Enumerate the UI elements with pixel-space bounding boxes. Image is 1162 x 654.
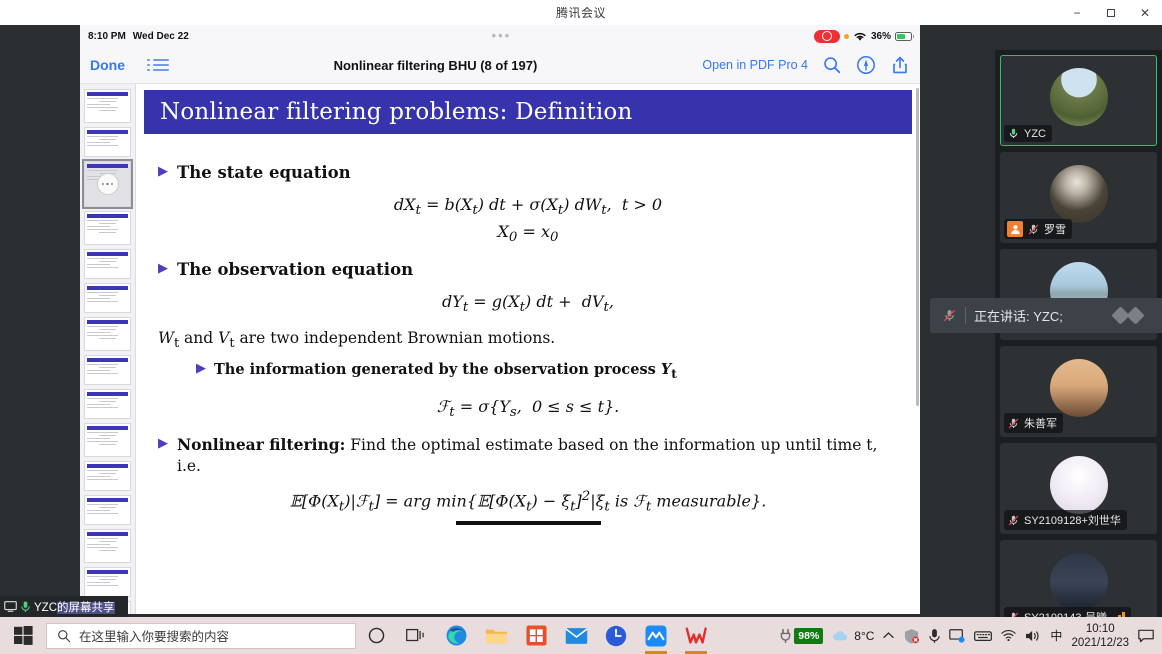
- ios-status-right: 36%: [814, 30, 912, 43]
- equation-observation: dYt = g(Xt) dt + dVt,: [158, 292, 898, 315]
- participant-nametag: 罗雪: [1004, 219, 1072, 239]
- clock-date: 2021/12/23: [1071, 636, 1129, 650]
- taskbar-clock[interactable]: 10:10 2021/12/23: [1071, 622, 1129, 650]
- ios-center-dots: •••: [189, 32, 814, 40]
- equation-state-1: dXt = b(Xt) dt + σ(Xt) dWt, t > 0: [158, 195, 898, 218]
- bullet-nonlinear-filtering: ▶ Nonlinear filtering: Find the optimal …: [158, 434, 898, 477]
- search-placeholder: 在这里输入你要搜索的内容: [79, 626, 229, 645]
- windows-taskbar: 在这里输入你要搜索的内容: [0, 617, 1162, 654]
- equation-filtration: ℱt = σ{Ys, 0 ≤ s ≤ t}.: [158, 397, 898, 420]
- bullet-label: The observation equation: [177, 259, 413, 280]
- mic-muted-icon: [942, 308, 957, 323]
- mic-muted-icon: [1027, 223, 1040, 236]
- avatar: [1050, 553, 1108, 611]
- participant-nametag: SY2109128+刘世华: [1004, 510, 1127, 530]
- thumbnail-slide[interactable]: [84, 461, 131, 491]
- thumbnail-slide[interactable]: [84, 283, 131, 313]
- screen-root: 腾讯会议 − ✕ 8:10 PM Wed Dec 22 •••: [0, 0, 1162, 654]
- thumbnail-slide[interactable]: [84, 529, 131, 563]
- wifi-icon: [853, 31, 867, 42]
- thumbnail-slide[interactable]: [84, 211, 131, 245]
- minimize-button[interactable]: −: [1060, 0, 1094, 25]
- share-banner-prefix: YZC: [34, 602, 57, 614]
- mic-muted-icon: [1007, 417, 1020, 430]
- bullet-label: The state equation: [177, 162, 351, 183]
- done-button[interactable]: Done: [90, 57, 125, 73]
- participant-name: 罗雪: [1044, 221, 1066, 237]
- battery-charging-icon: [895, 32, 912, 41]
- weather-widget[interactable]: 8°C: [832, 629, 874, 643]
- pdf-toolbar-actions: Open in PDF Pro 4: [702, 55, 910, 75]
- share-banner-highlight: 的屏幕共享: [57, 602, 115, 614]
- maximize-icon: [1106, 8, 1116, 18]
- microphone-tray-icon[interactable]: [929, 628, 940, 644]
- open-in-pdf-pro-button[interactable]: Open in PDF Pro 4: [702, 58, 808, 72]
- volume-icon[interactable]: [1025, 629, 1041, 643]
- participant-tile[interactable]: YZC: [1000, 55, 1157, 146]
- bullet-observation-equation: ▶ The observation equation: [158, 259, 898, 280]
- bullet-strong: Nonlinear filtering:: [177, 435, 345, 454]
- action-center-icon[interactable]: [1138, 629, 1154, 643]
- speaking-indicator[interactable]: 正在讲话: YZC;: [930, 298, 1162, 333]
- mail-icon[interactable]: [556, 617, 596, 654]
- battery-percent: 98%: [794, 628, 823, 644]
- tencent-meeting-icon[interactable]: [636, 617, 676, 654]
- battery-percent: 36%: [871, 31, 891, 42]
- slide-title: Nonlinear filtering problems: Definition: [144, 90, 912, 134]
- ime-indicator[interactable]: 中: [1050, 627, 1062, 644]
- task-view-icon[interactable]: [396, 617, 436, 654]
- mic-on-icon: [1007, 127, 1020, 140]
- thumbnail-slide[interactable]: [84, 567, 131, 597]
- bullet-triangle-icon: ▶: [158, 162, 168, 182]
- window-controls: − ✕: [1060, 0, 1162, 25]
- participant-tile[interactable]: SY2109128+刘世华: [1000, 443, 1157, 534]
- wps-office-icon[interactable]: [676, 617, 716, 654]
- microphone-in-use-dot-icon: [844, 34, 849, 39]
- windows-start-icon[interactable]: [0, 617, 46, 654]
- window-title: 腾讯会议: [556, 4, 606, 21]
- thumbnail-slide[interactable]: [84, 127, 131, 157]
- thumbnail-slide[interactable]: [84, 317, 131, 351]
- battery-tray-icon[interactable]: 98%: [779, 628, 823, 644]
- participant-name: YZC: [1024, 128, 1046, 140]
- record-pill-icon: [814, 30, 840, 43]
- microsoft-edge-icon[interactable]: [436, 617, 476, 654]
- search-icon[interactable]: [822, 55, 842, 75]
- participant-nametag: YZC: [1004, 125, 1052, 142]
- share-icon[interactable]: [890, 55, 910, 75]
- pdf-toolbar: Done Nonlinear filtering BHU (8 of 197) …: [80, 47, 920, 84]
- slide-underline: [456, 521, 601, 525]
- table-of-contents-icon[interactable]: [147, 59, 169, 72]
- slide-content: ▶ The state equation dXt = b(Xt) dt + σ(…: [136, 134, 920, 525]
- loop-app-icon[interactable]: [596, 617, 636, 654]
- bullet-triangle-icon: ▶: [158, 259, 168, 279]
- pdf-scrollbar[interactable]: [916, 88, 919, 406]
- thumbnail-slide[interactable]: [84, 389, 131, 419]
- thumbnail-slide[interactable]: [84, 89, 131, 123]
- wifi-tray-icon[interactable]: [1001, 629, 1016, 642]
- search-icon: [57, 629, 71, 643]
- speaking-text: 正在讲话: YZC;: [974, 306, 1063, 325]
- bullet-triangle-icon: ▶: [196, 359, 206, 379]
- show-hidden-icons-icon[interactable]: [883, 631, 894, 640]
- bullet-label: Nonlinear filtering: Find the optimal es…: [177, 434, 898, 477]
- divider: [965, 307, 966, 324]
- ios-clock: 8:10 PM: [88, 31, 126, 42]
- mic-muted-icon: [1007, 514, 1020, 527]
- file-explorer-icon[interactable]: [476, 617, 516, 654]
- slide-page: Nonlinear filtering problems: Definition…: [136, 84, 920, 614]
- equation-optimal-estimate: 𝔼[Φ(Xt)|ℱt] = arg min{𝔼[Φ(Xt) − ξt]2|ξt …: [158, 489, 898, 515]
- avatar: [1050, 68, 1108, 126]
- weather-temp: 8°C: [854, 629, 874, 643]
- participant-nametag: 朱善军: [1004, 413, 1063, 433]
- thumbnail-slide[interactable]: [84, 355, 131, 385]
- keyboard-icon[interactable]: [974, 630, 992, 642]
- cortana-circle-icon[interactable]: [356, 617, 396, 654]
- host-badge-icon: [1007, 221, 1023, 237]
- avatar: [1050, 359, 1108, 417]
- subbullet-label: The information generated by the observa…: [214, 359, 677, 385]
- meeting-stage: 8:10 PM Wed Dec 22 ••• 36% Done: [0, 25, 1162, 621]
- shared-screen: 8:10 PM Wed Dec 22 ••• 36% Done: [80, 25, 920, 614]
- brownian-motion-line: Wt and Vt are two independent Brownian m…: [158, 329, 898, 351]
- window-title-bar: 腾讯会议 − ✕: [0, 0, 1162, 25]
- power-plug-icon: [779, 628, 792, 644]
- participants-rail: YZC罗雪朱善军SY2109128+刘世华SY2109143-吴曦: [995, 50, 1162, 646]
- thumbnail-slide[interactable]: [84, 495, 131, 525]
- thumbnail-slide[interactable]: [84, 161, 131, 207]
- share-banner-text: YZC的屏幕共享: [34, 599, 115, 615]
- participant-name: 朱善军: [1024, 415, 1057, 431]
- bullet-triangle-icon: ▶: [158, 434, 168, 454]
- participant-tile[interactable]: 朱善军: [1000, 346, 1157, 437]
- participant-tile[interactable]: 罗雪: [1000, 152, 1157, 243]
- ios-date: Wed Dec 22: [133, 31, 189, 42]
- search-input[interactable]: 在这里输入你要搜索的内容: [46, 623, 356, 649]
- markup-pen-icon[interactable]: [856, 55, 876, 75]
- display-settings-icon[interactable]: [949, 629, 965, 643]
- cloud-icon: [832, 629, 849, 642]
- security-warning-icon[interactable]: [903, 628, 920, 644]
- maximize-button[interactable]: [1094, 0, 1128, 25]
- pdf-body: Nonlinear filtering problems: Definition…: [80, 84, 920, 614]
- clock-time: 10:10: [1086, 622, 1115, 636]
- windows-logo-icon: [14, 626, 33, 645]
- avatar: [1050, 165, 1108, 223]
- system-tray: 98% 8°C: [779, 622, 1162, 650]
- screen-share-banner[interactable]: YZC的屏幕共享: [0, 596, 128, 617]
- participant-name: SY2109128+刘世华: [1024, 512, 1121, 528]
- subbullet-information: ▶ The information generated by the obser…: [158, 359, 898, 385]
- microsoft-store-icon[interactable]: [516, 617, 556, 654]
- bullet-state-equation: ▶ The state equation: [158, 162, 898, 183]
- thumbnail-sidebar[interactable]: [80, 84, 136, 614]
- equation-state-2: X0 = x0: [158, 222, 898, 245]
- document-title: Nonlinear filtering BHU (8 of 197): [169, 58, 703, 73]
- screen-share-icon: [4, 601, 17, 612]
- chevron-icon[interactable]: [1114, 309, 1142, 322]
- close-button[interactable]: ✕: [1128, 0, 1162, 25]
- thumbnail-slide[interactable]: [84, 249, 131, 279]
- thumbnail-slide[interactable]: [84, 423, 131, 457]
- mic-green-icon: [20, 600, 31, 613]
- avatar: [1050, 456, 1108, 514]
- ios-status-bar: 8:10 PM Wed Dec 22 ••• 36%: [80, 25, 920, 47]
